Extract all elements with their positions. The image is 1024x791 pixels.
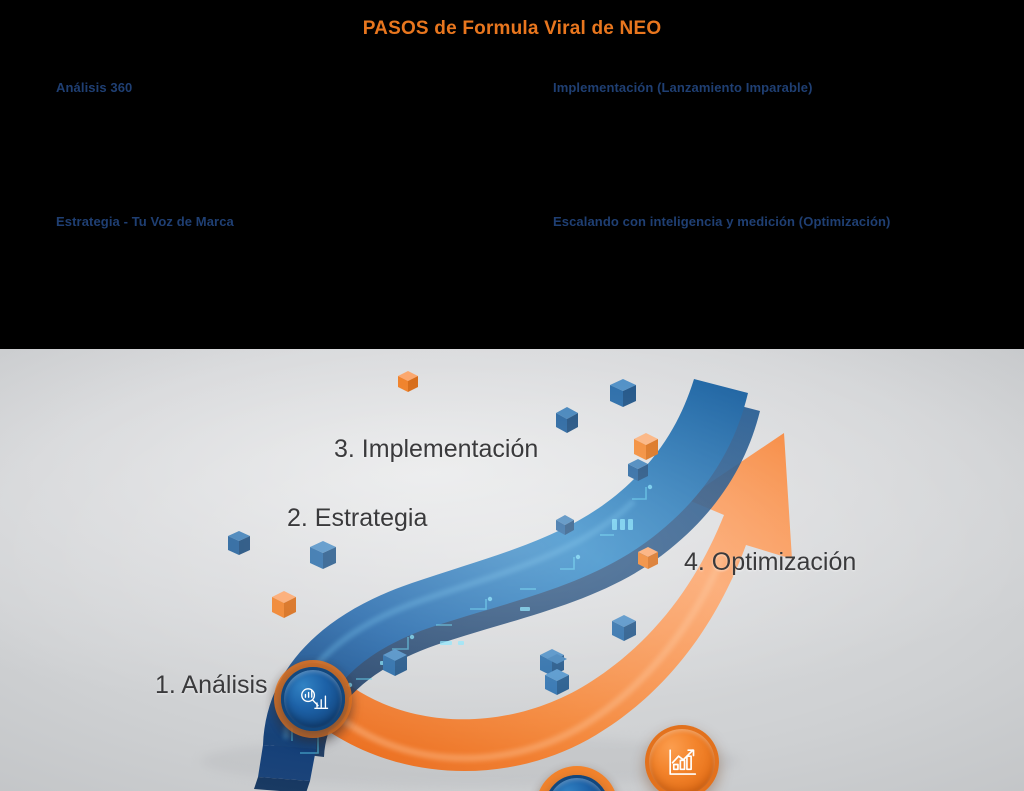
step-label-estrategia: Estrategia - Tu Voz de Marca xyxy=(56,214,234,229)
slide-text-area: PASOS de Formula Viral de NEO Análisis 3… xyxy=(0,0,1024,349)
magnifier-chart-icon xyxy=(277,663,349,735)
step-label-analisis: Análisis 360 xyxy=(56,80,132,95)
caption-implementacion: 3. Implementación xyxy=(334,435,538,464)
slide-canvas: PASOS de Formula Viral de NEO Análisis 3… xyxy=(0,0,1024,791)
step-label-optimizacion: Escalando con inteligencia y medición (O… xyxy=(553,214,891,229)
caption-estrategia: 2. Estrategia xyxy=(287,504,427,533)
page-title: PASOS de Formula Viral de NEO xyxy=(0,18,1024,40)
arrow-ribbon-graphic xyxy=(0,349,1024,791)
rocket-icon xyxy=(541,771,613,791)
caption-optimizacion: 4. Optimización xyxy=(684,548,856,577)
infographic-image: 1. Análisis 2. Estrategia 3. Implementac… xyxy=(0,349,1024,791)
step-label-implementacion: Implementación (Lanzamiento Imparable) xyxy=(553,80,813,95)
caption-analisis: 1. Análisis xyxy=(155,671,268,700)
growth-chart-icon xyxy=(645,725,719,791)
